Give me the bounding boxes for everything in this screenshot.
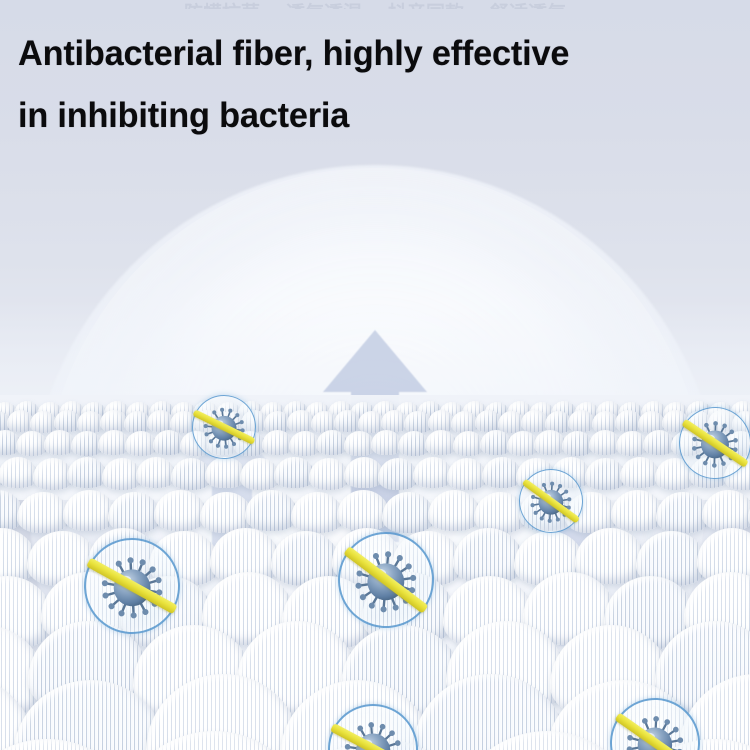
virus-spike-knob bbox=[373, 553, 380, 560]
fiber-loop bbox=[117, 731, 311, 750]
virus-spike-knob bbox=[548, 519, 552, 523]
virus-spike-knob bbox=[228, 408, 232, 412]
germ-blocked-icon bbox=[327, 703, 419, 750]
fiber-loop bbox=[702, 490, 750, 531]
germ-blocked-icon bbox=[84, 538, 181, 635]
virus-spike-knob bbox=[239, 420, 243, 424]
germ-blocked-icon bbox=[518, 468, 584, 534]
virus-spike-knob bbox=[567, 497, 571, 501]
germ-blocked-icon bbox=[336, 530, 436, 630]
virus-spike-knob bbox=[385, 551, 392, 558]
virus-spike-knob bbox=[531, 495, 535, 499]
virus-spike-knob bbox=[203, 424, 207, 428]
virus-spike-knob bbox=[733, 438, 738, 443]
fiber-row bbox=[0, 410, 750, 431]
virus-spike-knob bbox=[692, 437, 697, 442]
virus-spike-knob bbox=[368, 722, 374, 728]
virus-spike-knob bbox=[627, 746, 633, 750]
virus-spike-knob bbox=[345, 744, 351, 750]
virus-spike-knob bbox=[653, 716, 659, 722]
virus-spike-knob bbox=[410, 575, 417, 582]
fiber-row bbox=[0, 430, 750, 455]
virus-spike-knob bbox=[712, 463, 717, 468]
germ-blocked-icon bbox=[190, 393, 258, 461]
virus-spike-knob bbox=[692, 446, 697, 451]
virus-spike-knob bbox=[204, 432, 208, 436]
cropped-top-text-strip: 防螨抗菌 透气透湿 抖音同款 舒适透气 bbox=[0, 0, 750, 9]
virus-spike-knob bbox=[102, 592, 108, 598]
virus-spike-knob bbox=[127, 557, 133, 563]
virus-spike-knob bbox=[530, 503, 534, 507]
virus-spike-knob bbox=[216, 444, 220, 448]
virus-spike-knob bbox=[556, 517, 560, 521]
virus-spike-knob bbox=[355, 582, 362, 589]
virus-spike-knob bbox=[102, 580, 108, 586]
headline-line-1: Antibacterial fiber, highly effective bbox=[18, 23, 720, 85]
arrow-head bbox=[323, 330, 427, 392]
virus-spike-knob bbox=[155, 577, 161, 583]
virus-spike-knob bbox=[130, 612, 136, 618]
virus-spike-knob bbox=[677, 737, 683, 743]
virus-spike-knob bbox=[224, 444, 228, 448]
headline: Antibacterial fiber, highly effective in… bbox=[18, 23, 720, 147]
germ-blocked-icon bbox=[610, 698, 700, 750]
virus-spike-knob bbox=[392, 604, 399, 611]
poster-root: 防螨抗菌 透气透湿 抖音同款 舒适透气 Antibacterial fiber,… bbox=[0, 0, 750, 750]
virus-spike-knob bbox=[627, 735, 633, 741]
virus-spike-knob bbox=[395, 740, 401, 746]
fiber-row bbox=[0, 457, 750, 488]
virus-spike-knob bbox=[542, 483, 546, 487]
virus-spike-knob bbox=[220, 407, 224, 411]
virus-spike-knob bbox=[139, 559, 145, 565]
virus-spike-knob bbox=[713, 421, 718, 426]
virus-spike-knob bbox=[550, 481, 554, 485]
virus-spike-knob bbox=[118, 610, 124, 616]
germ-blocked-icon bbox=[679, 407, 750, 479]
headline-line-2: in inhibiting bacteria bbox=[18, 85, 720, 147]
virus-spike-knob bbox=[380, 724, 386, 730]
virus-spike-knob bbox=[356, 570, 363, 577]
virus-spike-knob bbox=[380, 606, 387, 613]
fiber-loop-surface bbox=[117, 731, 311, 750]
fiber-row bbox=[0, 490, 750, 531]
fiber-loop-surface bbox=[702, 490, 750, 531]
